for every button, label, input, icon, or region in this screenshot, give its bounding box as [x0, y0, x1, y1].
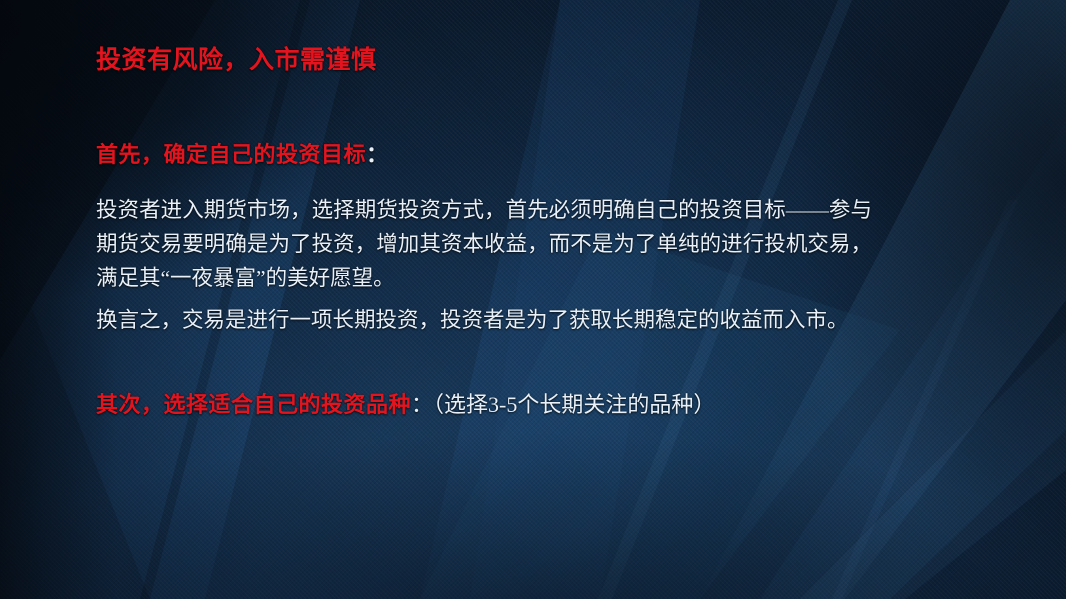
slide-content: 投资有风险，入市需谨慎 首先，确定自己的投资目标： 投资者进入期货市场，选择期货… [96, 0, 976, 599]
slide-title: 投资有风险，入市需谨慎 [96, 47, 377, 76]
section-subheading-colon: ： [366, 142, 389, 167]
body-paragraph-2: 换言之，交易是进行一项长期投资，投资者是为了获取长期稳定的收益而入市。 [96, 303, 872, 337]
body-paragraph-1: 投资者进入期货市场，选择期货投资方式，首先必须明确自己的投资目标——参与期货交易… [96, 193, 872, 295]
closing-line-heading: 其次，选择适合自己的投资品种 [96, 392, 411, 417]
section-subheading: 首先，确定自己的投资目标： [96, 137, 389, 169]
closing-line: 其次，选择适合自己的投资品种：（选择3-5个长期关注的品种） [96, 389, 715, 421]
slide-canvas: 投资有风险，入市需谨慎 首先，确定自己的投资目标： 投资者进入期货市场，选择期货… [0, 0, 1066, 599]
closing-line-note: ：（选择3-5个长期关注的品种） [411, 392, 715, 417]
section-subheading-text: 首先，确定自己的投资目标 [96, 142, 366, 167]
